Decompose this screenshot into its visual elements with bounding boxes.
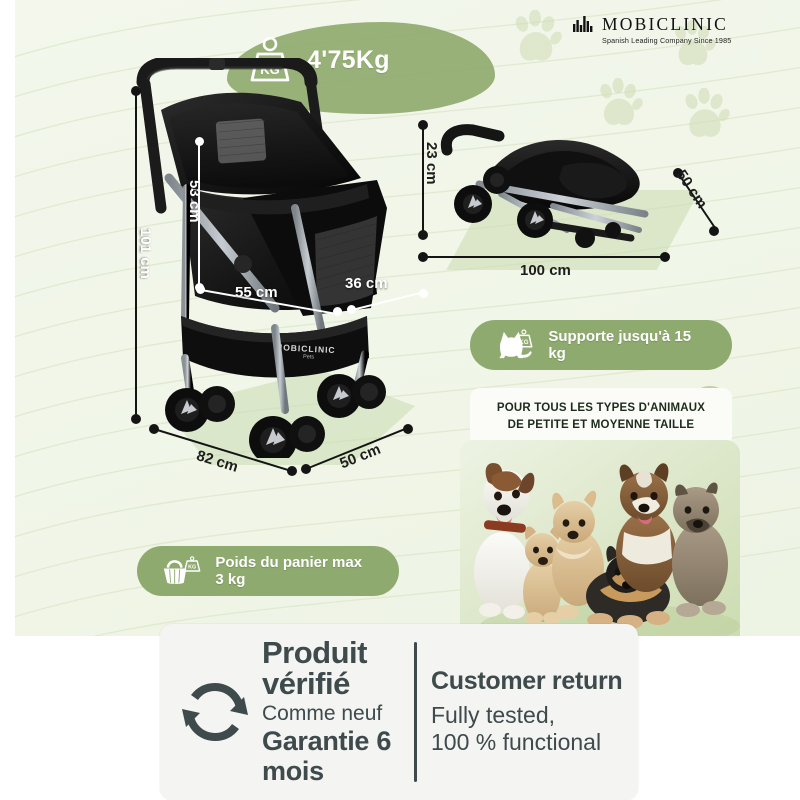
feature-pill-basket-weight-label: Poids du panier max 3 kg: [215, 554, 373, 588]
banner-left-text: Produit vérifié Comme neuf Garantie 6 mo…: [262, 637, 410, 787]
dim-label-53cm: 53 cm: [186, 180, 203, 223]
feature-pill-basket-weight: KG Poids du panier max 3 kg: [137, 546, 399, 596]
banner-right-section: Customer return Fully tested, 100 % func…: [431, 667, 622, 757]
caption-line-1: POUR TOUS LES TYPES D'ANIMAUX: [497, 400, 705, 417]
banner-subtitle: Comme neuf: [262, 701, 410, 727]
feature-pill-support-weight: KG Supporte jusqu'à 15 kg: [470, 320, 732, 370]
svg-text:Pets: Pets: [303, 354, 315, 361]
paw-print-icon: [510, 10, 562, 66]
dim-dot-50cm-open-right: [403, 424, 413, 434]
dim-dot-82cm-right: [287, 466, 297, 476]
cat-with-kg-icon: KG: [496, 328, 534, 362]
dim-label-100cm: 100 cm: [520, 262, 571, 279]
svg-text:KG: KG: [188, 564, 196, 570]
svg-text:KG: KG: [519, 339, 528, 346]
banner-divider: [414, 642, 417, 782]
banner-warranty: Garantie 6 mois: [262, 727, 410, 786]
animal-types-caption: POUR TOUS LES TYPES D'ANIMAUX DE PETITE …: [470, 388, 732, 446]
dim-dot-101cm-bottom: [131, 414, 141, 424]
banner-right-line1: Fully tested,: [431, 702, 622, 730]
folded-stroller-photo: [435, 120, 695, 260]
dogs-photo: [460, 440, 740, 636]
dim-line-100cm: [423, 256, 663, 258]
verified-product-banner: Produit vérifié Comme neuf Garantie 6 mo…: [160, 624, 638, 800]
dim-dot-23cm-bottom: [418, 230, 428, 240]
banner-right-title: Customer return: [431, 667, 622, 696]
banner-title-line2: vérifié: [262, 668, 410, 699]
dim-label-23cm: 23 cm: [423, 142, 440, 185]
banner-title-line1: Produit: [262, 637, 410, 668]
dim-dot-50cm-folded-bottom: [709, 226, 719, 236]
product-infographic: MOBICLINIC Spanish Leading Company Since…: [0, 0, 800, 800]
banner-right-line2: 100 % functional: [431, 729, 622, 757]
equalizer-bars-icon: [573, 16, 595, 32]
dim-label-36cm: 36 cm: [345, 275, 388, 292]
brand-tagline: Spanish Leading Company Since 1985: [602, 36, 731, 45]
dim-label-55cm: 55 cm: [235, 284, 278, 301]
dim-dot-55cm-right: [333, 307, 342, 316]
brand-name: MOBICLINIC: [602, 14, 731, 35]
basket-with-kg-icon: KG: [163, 554, 201, 588]
dim-label-101cm: 101 cm: [137, 228, 154, 279]
infographic-panel: MOBICLINIC Spanish Leading Company Since…: [15, 0, 800, 636]
dim-dot-100cm-right: [660, 252, 670, 262]
open-stroller-photo: MOBICLINIC Pets: [125, 58, 445, 458]
dim-dot-36cm-right: [419, 289, 428, 298]
banner-left-section: Produit vérifié Comme neuf Garantie 6 mo…: [160, 637, 410, 787]
recycle-arrows-icon: [178, 675, 252, 749]
brand-logo: MOBICLINIC Spanish Leading Company Since…: [573, 14, 731, 45]
caption-line-2: DE PETITE ET MOYENNE TAILLE: [497, 417, 705, 434]
feature-pill-support-weight-label: Supporte jusqu'à 15 kg: [548, 328, 706, 362]
